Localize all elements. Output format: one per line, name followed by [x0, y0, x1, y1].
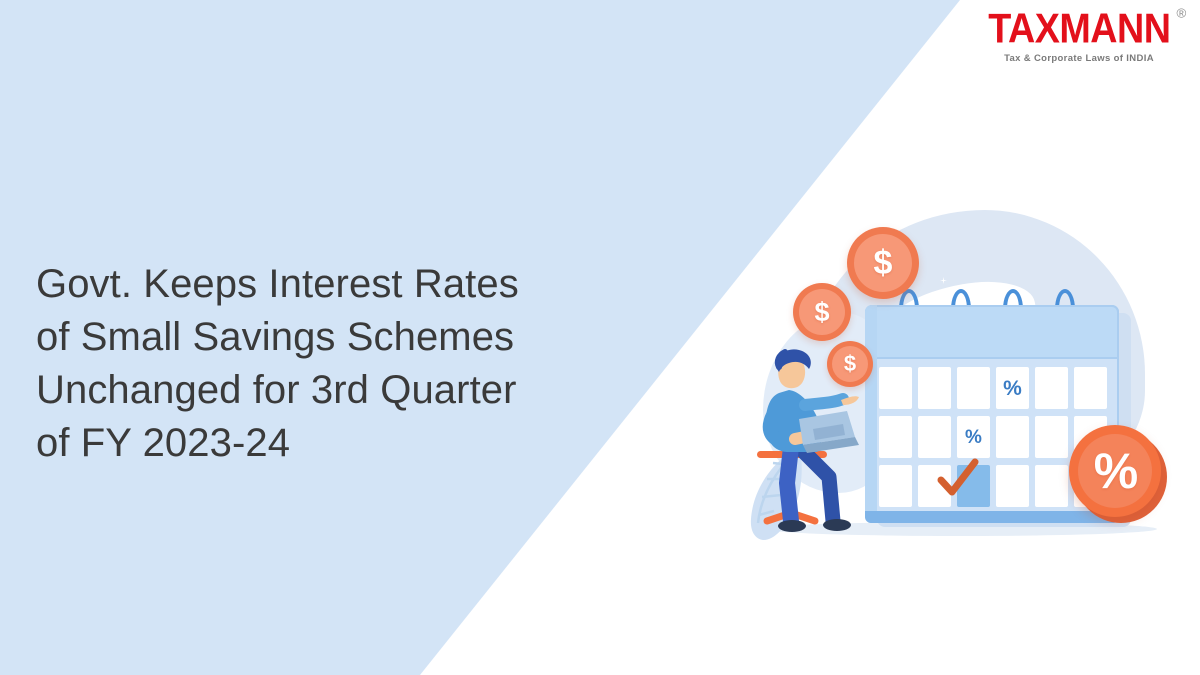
calendar-cell: [918, 367, 951, 409]
illustration: % % $ $ $: [735, 185, 1195, 585]
logo-wordmark: TAXMANN ®: [988, 8, 1170, 49]
percent-symbol: %: [1094, 446, 1136, 496]
calendar-cell-percent: %: [957, 416, 990, 458]
registered-trademark-icon: ®: [1176, 6, 1185, 19]
calendar-cell-percent: %: [996, 367, 1029, 409]
logo-wordmark-text: TAXMANN: [988, 6, 1170, 52]
percent-coin-large: %: [1069, 425, 1161, 517]
headline-title: Govt. Keeps Interest Rates of Small Savi…: [36, 258, 556, 470]
calendar-cell: [996, 465, 1029, 507]
calendar-cell: [1035, 465, 1068, 507]
dollar-symbol: $: [814, 299, 829, 326]
dollar-coin-medium: $: [793, 283, 851, 341]
calendar-cell: [996, 416, 1029, 458]
calendar-cell: [879, 465, 912, 507]
banner: TAXMANN ® Tax & Corporate Laws of INDIA …: [0, 0, 1200, 675]
calendar-cell: [879, 416, 912, 458]
calendar-cell: [1035, 416, 1068, 458]
checkmark-icon: [935, 457, 979, 501]
dollar-symbol: $: [874, 246, 893, 280]
calendar-cell: [1074, 367, 1107, 409]
calendar-cell: [918, 416, 951, 458]
calendar-header-band: [865, 305, 1119, 359]
calendar-footer-band: [865, 511, 1119, 523]
taxmann-logo[interactable]: TAXMANN ® Tax & Corporate Laws of INDIA: [974, 8, 1184, 64]
dollar-coin-large: $: [847, 227, 919, 299]
calendar-cell: [879, 367, 912, 409]
person-with-laptop-illustration: [743, 345, 875, 540]
calendar-cell: [1035, 367, 1068, 409]
calendar-cell: [957, 367, 990, 409]
logo-tagline: Tax & Corporate Laws of INDIA: [974, 54, 1184, 64]
